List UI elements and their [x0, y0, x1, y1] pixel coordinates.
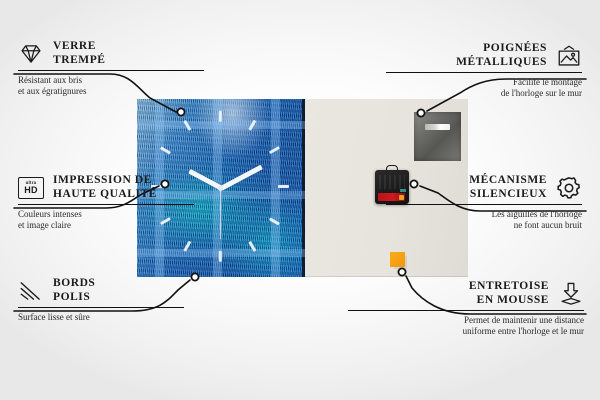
feature-caption: Les aiguilles de l'horloge ne font aucun… [386, 204, 582, 231]
feature-title-line2: HAUTE QUALITÉ [53, 188, 157, 202]
orange-foam-spacer [390, 252, 405, 267]
diamond-icon [18, 41, 44, 67]
mechanism-hanging-loop [386, 165, 398, 172]
pattern-line-h1 [137, 121, 305, 129]
feature-caption-line2: de l'horloge sur le mur [386, 88, 582, 99]
feature-title-line1: BORDS [53, 277, 95, 291]
feature-title: IMPRESSION DE HAUTE QUALITÉ [53, 174, 157, 201]
feature-caption: Résistant aux bris et aux égratignures [18, 70, 204, 97]
feature-heading-row: ENTRETOISE EN MOUSSE [348, 280, 584, 307]
feature-impression-haute-qualite: ultra HD IMPRESSION DE HAUTE QUALITÉ Cou… [18, 174, 194, 231]
feature-caption-line2: et image claire [18, 220, 194, 231]
panel-highlight [194, 99, 271, 160]
clock-minute-hand [219, 165, 262, 191]
polished-edges-icon [18, 278, 44, 304]
feature-heading-row: BORDS POLIS [18, 277, 184, 304]
feature-heading-row: ultra HD IMPRESSION DE HAUTE QUALITÉ [18, 174, 194, 201]
feature-title-line1: POIGNÉES [456, 42, 547, 56]
feature-title: ENTRETOISE EN MOUSSE [469, 280, 549, 307]
feature-entretoise-en-mousse: ENTRETOISE EN MOUSSE Permet de maintenir… [348, 280, 584, 337]
infographic-canvas: VERRE TREMPÉ Résistant aux bris et aux é… [0, 0, 600, 400]
foam-spacer-icon [558, 281, 584, 307]
feature-caption-line2: ne font aucun bruit [386, 220, 582, 231]
feature-title-line1: IMPRESSION DE [53, 174, 157, 188]
clock-tick-12 [219, 111, 222, 122]
clock-second-hand [220, 187, 221, 239]
feature-title-line1: MÉCANISME [469, 174, 547, 188]
feature-title: VERRE TREMPÉ [53, 40, 106, 67]
clock-tick-3 [278, 185, 289, 188]
gear-icon [556, 175, 582, 201]
feature-title-line2: MÉTALLIQUES [456, 56, 547, 70]
feature-poignees-metalliques: POIGNÉES MÉTALLIQUES Facilite le montage… [386, 42, 582, 99]
feature-caption-line1: Facilite le montage [386, 77, 582, 88]
clock-center-hub [218, 186, 223, 191]
feature-title-line2: EN MOUSSE [469, 294, 549, 308]
feature-title: MÉCANISME SILENCIEUX [469, 174, 547, 201]
metal-hanger-plate [414, 112, 461, 161]
feature-caption-line1: Couleurs intenses [18, 209, 194, 220]
feature-caption: Permet de maintenir une distance uniform… [348, 310, 584, 337]
ultra-hd-icon-large-text: HD [24, 185, 37, 195]
feature-caption: Facilite le montage de l'horloge sur le … [386, 72, 582, 99]
feature-title: BORDS POLIS [53, 277, 95, 304]
feature-caption-line2: et aux égratignures [18, 86, 204, 97]
feature-caption-line1: Permet de maintenir une distance [348, 315, 584, 326]
feature-caption: Couleurs intenses et image claire [18, 204, 194, 231]
feature-caption-line2: uniforme entre l'horloge et le mur [348, 326, 584, 337]
feature-title-line2: TREMPÉ [53, 54, 106, 68]
ultra-hd-icon: ultra HD [18, 177, 44, 199]
feature-heading-row: MÉCANISME SILENCIEUX [386, 174, 582, 201]
feature-verre-trempe: VERRE TREMPÉ Résistant aux bris et aux é… [18, 40, 204, 97]
feature-bords-polis: BORDS POLIS Surface lisse et sûre [18, 277, 184, 323]
feature-caption-line1: Résistant aux bris [18, 75, 204, 86]
hanger-slot [425, 124, 450, 130]
feature-caption-line1: Les aiguilles de l'horloge [386, 209, 582, 220]
feature-mecanisme-silencieux: MÉCANISME SILENCIEUX Les aiguilles de l'… [386, 174, 582, 231]
feature-heading-row: VERRE TREMPÉ [18, 40, 204, 67]
picture-hanger-icon [556, 43, 582, 69]
feature-caption: Surface lisse et sûre [18, 307, 184, 323]
feature-heading-row: POIGNÉES MÉTALLIQUES [386, 42, 582, 69]
feature-caption-line1: Surface lisse et sûre [18, 312, 184, 323]
feature-title-line2: SILENCIEUX [469, 188, 547, 202]
feature-title: POIGNÉES MÉTALLIQUES [456, 42, 547, 69]
feature-title-line1: ENTRETOISE [469, 280, 549, 294]
feature-title-line1: VERRE [53, 40, 106, 54]
feature-title-line2: POLIS [53, 291, 95, 305]
clock-tick-6 [219, 251, 222, 262]
